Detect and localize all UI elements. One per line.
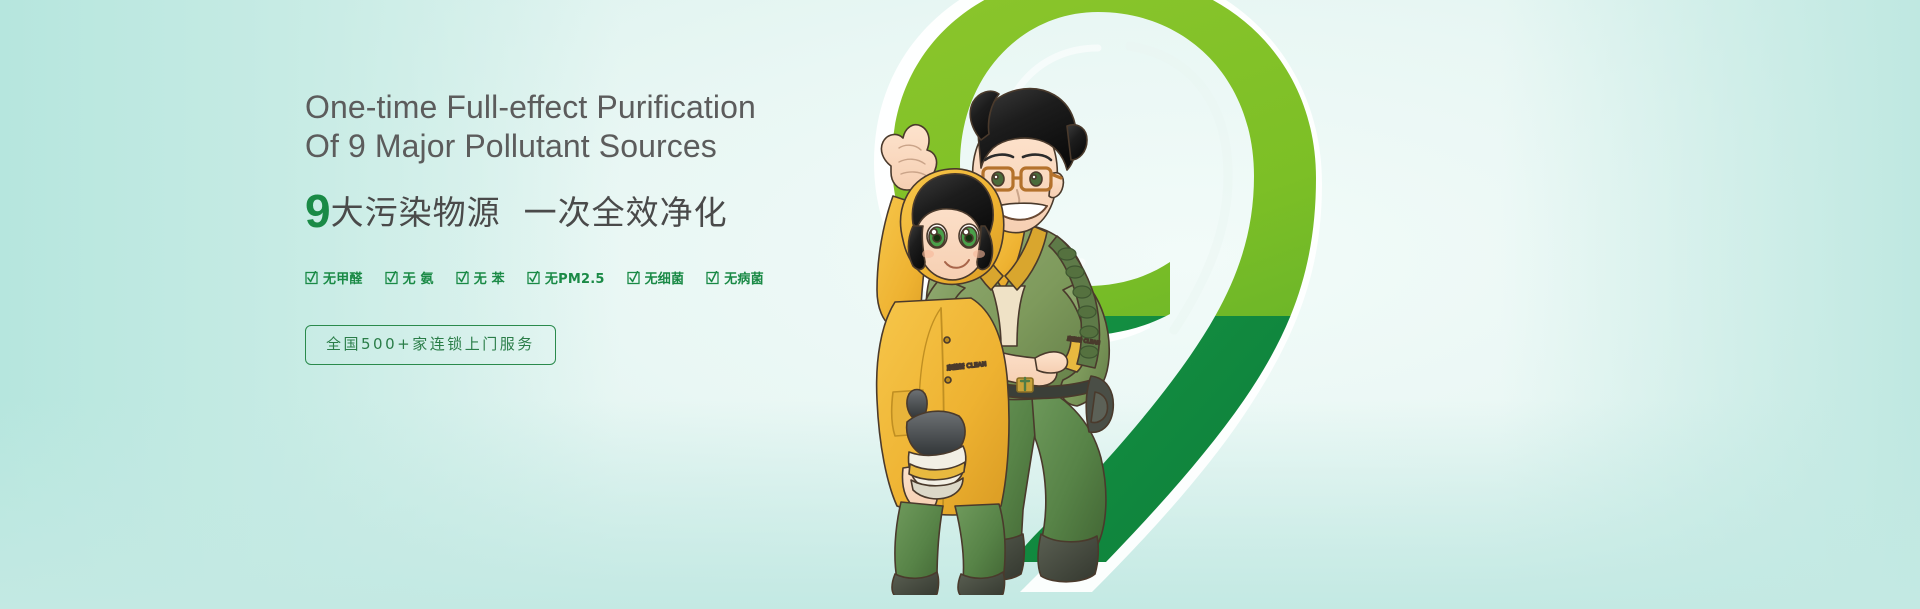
checkbox-check-icon (456, 271, 469, 285)
headline-chinese-number: 9 (305, 185, 331, 237)
technician-and-child-illustration: 康蓝新 CLEAN (795, 40, 1175, 595)
headline-en-line1: One-time Full-effect Purification (305, 89, 756, 125)
background-gradient-right (1500, 0, 1920, 609)
feature-item: 无PM2.5 (527, 268, 605, 287)
feature-label: 无 苯 (474, 268, 505, 287)
page-title: One-time Full-effect PurificationOf 9 Ma… (305, 88, 825, 166)
feature-item: 无细菌 (627, 268, 685, 287)
checkbox-check-icon (706, 271, 719, 285)
checkbox-check-icon (527, 271, 540, 285)
checkbox-check-icon (627, 271, 640, 285)
feature-label: 无甲醛 (323, 268, 363, 287)
feature-item: 无甲醛 (305, 268, 363, 287)
headline-chinese: 9大污染物源 一次全效净化 (305, 188, 825, 234)
feature-label: 无细菌 (645, 268, 685, 287)
feature-label: 无PM2.5 (545, 268, 605, 287)
feature-list: 无甲醛 无 氨 无 苯 无PM2.5 (305, 268, 825, 287)
headline-en-line2: Of 9 Major Pollutant Sources (305, 128, 717, 164)
nationwide-service-button[interactable]: 全国500+家连锁上门服务 (305, 325, 556, 365)
feature-item: 无 苯 (456, 268, 505, 287)
checkbox-check-icon (385, 271, 398, 285)
banner-copy-column: One-time Full-effect PurificationOf 9 Ma… (305, 88, 825, 365)
feature-item: 无 氨 (385, 268, 434, 287)
feature-label: 无 氨 (403, 268, 434, 287)
promo-banner: 康蓝新 CLEAN (0, 0, 1920, 609)
feature-label: 无病菌 (724, 268, 764, 287)
checkbox-check-icon (305, 271, 318, 285)
headline-chinese-rest: 大污染物源 一次全效净化 (331, 193, 728, 232)
feature-item: 无病菌 (706, 268, 764, 287)
